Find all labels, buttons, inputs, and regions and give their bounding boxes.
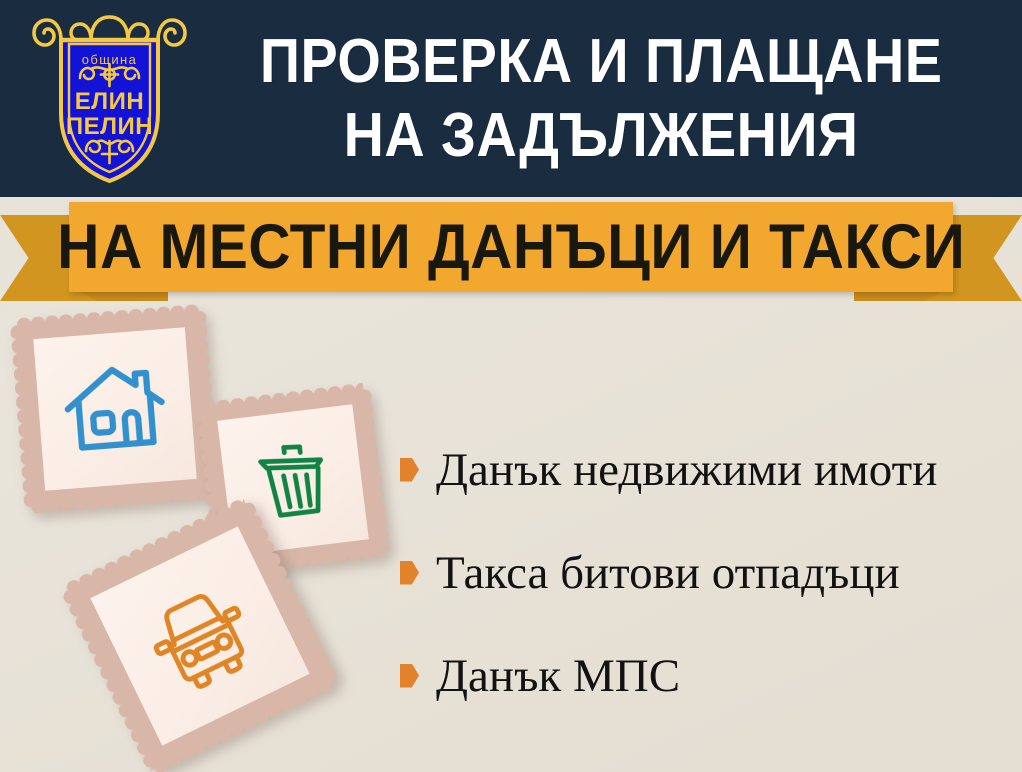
stamp-card-property — [10, 304, 221, 515]
list-item[interactable]: Данък недвижими имоти — [400, 418, 1010, 521]
page-title-line-2: НА ЗАДЪЛЖЕНИЯ — [344, 99, 859, 173]
page-title: ПРОВЕРКА И ПЛАЩАНЕ НА ЗАДЪЛЖЕНИЯ — [196, 16, 1006, 181]
list-item-label: Такса битови отпадъци — [436, 547, 900, 599]
coat-of-arms-icon: община ЕЛИН ПЕЛИН — [28, 8, 191, 188]
list-item-label: Данък МПС — [436, 650, 680, 702]
list-item[interactable]: Данък МПС — [400, 624, 1010, 727]
car-front-icon — [125, 561, 275, 711]
house-icon — [55, 349, 175, 469]
subtitle-ribbon: НА МЕСТНИ ДАНЪЦИ И ТАКСИ — [0, 197, 1022, 309]
svg-text:ПЕЛИН: ПЕЛИН — [66, 113, 153, 140]
ribbon-subtitle-text: НА МЕСТНИ ДАНЪЦИ И ТАКСИ — [57, 216, 965, 279]
page-title-line-1: ПРОВЕРКА И ПЛАЩАНЕ — [260, 25, 943, 99]
arrow-bullet-icon — [400, 664, 419, 688]
arrow-bullet-icon — [400, 458, 419, 482]
tax-type-list: Данък недвижими имоти Такса битови отпад… — [400, 418, 1010, 727]
poster-canvas: община ЕЛИН ПЕЛИН ПРОВЕРКА И ПЛАЩАНЕ — [0, 0, 1022, 772]
list-item-label: Данък недвижими имоти — [436, 444, 937, 496]
stamp-paper — [33, 327, 196, 490]
list-item[interactable]: Такса битови отпадъци — [400, 521, 1010, 624]
arrow-bullet-icon — [400, 561, 419, 585]
ribbon-center-panel: НА МЕСТНИ ДАНЪЦИ И ТАКСИ — [69, 202, 953, 292]
svg-text:ЕЛИН: ЕЛИН — [75, 88, 144, 115]
